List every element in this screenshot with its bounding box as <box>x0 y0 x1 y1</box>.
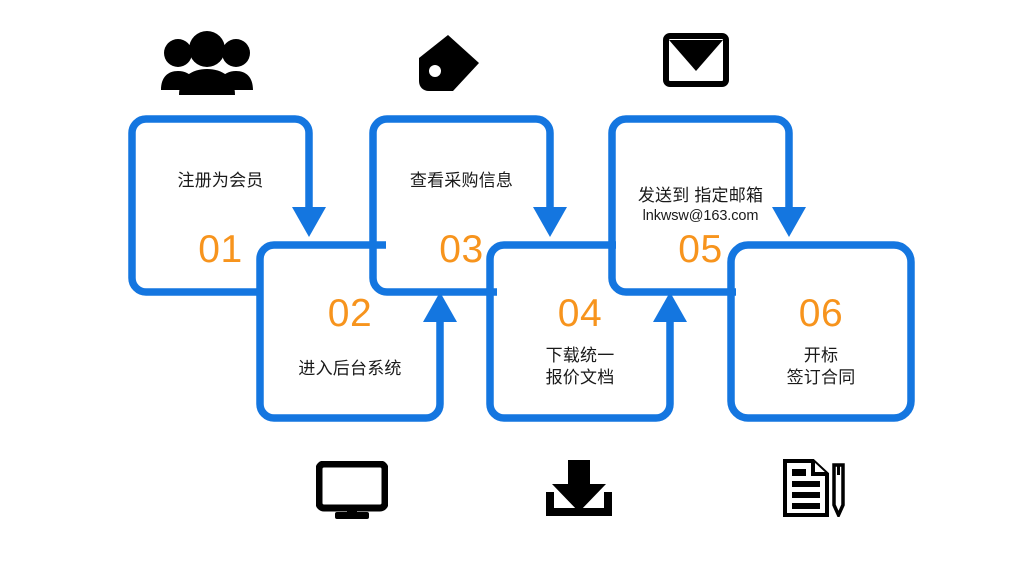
download-icon <box>544 458 614 518</box>
flowchart-canvas: .ln { stroke: #1476E0; stroke-width: 7.5… <box>0 0 1024 571</box>
envelope-icon <box>663 33 729 87</box>
users-group-icon <box>161 27 253 95</box>
box-05-outline <box>612 119 789 292</box>
arrow-05-to-06-head <box>772 207 806 237</box>
box-03-outline <box>373 119 550 292</box>
box-02-outline <box>260 245 440 418</box>
arrow-04-to-05-head <box>653 292 687 322</box>
box-01-outline <box>132 119 309 292</box>
box-04-outline <box>490 245 670 418</box>
price-tag-icon <box>417 33 481 93</box>
arrow-01-to-02-head <box>292 207 326 237</box>
flow-connector-layer: .ln { stroke: #1476E0; stroke-width: 7.5… <box>0 0 1024 571</box>
document-pen-icon <box>781 459 847 517</box>
desktop-monitor-icon <box>316 461 388 519</box>
arrow-03-to-04-head <box>533 207 567 237</box>
box-06-outline <box>731 245 911 418</box>
arrow-02-to-03-head <box>423 292 457 322</box>
